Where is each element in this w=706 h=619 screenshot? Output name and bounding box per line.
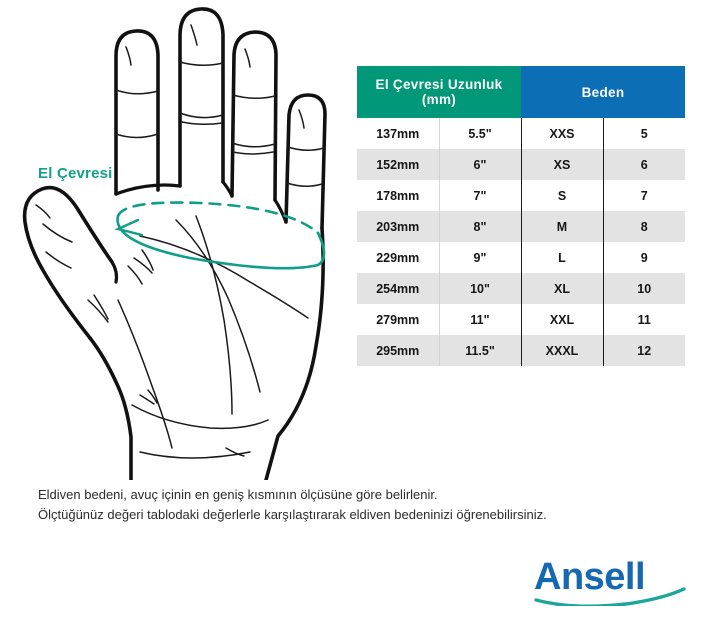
table-header-row: El Çevresi Uzunluk (mm) Beden [357, 66, 685, 118]
cell-inches: 11" [439, 304, 521, 335]
cell-size-number: 9 [603, 242, 685, 273]
table-row: 229mm9"L9 [357, 242, 685, 273]
footnote: Eldiven bedeni, avuç içinin en geniş kıs… [38, 485, 678, 525]
cell-size-number: 7 [603, 180, 685, 211]
cell-inches: 5.5" [439, 118, 521, 149]
hand-circumference-ellipse [118, 203, 324, 269]
cell-inches: 8" [439, 211, 521, 242]
cell-size-letter: XS [521, 149, 603, 180]
cell-millimeters: 152mm [357, 149, 439, 180]
cell-millimeters: 254mm [357, 273, 439, 304]
cell-size-letter: L [521, 242, 603, 273]
cell-millimeters: 229mm [357, 242, 439, 273]
footnote-line-1: Eldiven bedeni, avuç içinin en geniş kıs… [38, 485, 678, 505]
cell-size-letter: S [521, 180, 603, 211]
table-row: 279mm11"XXL11 [357, 304, 685, 335]
header-size: Beden [521, 66, 685, 118]
cell-millimeters: 203mm [357, 211, 439, 242]
cell-millimeters: 279mm [357, 304, 439, 335]
cell-size-number: 8 [603, 211, 685, 242]
header-hand-circumference: El Çevresi Uzunluk (mm) [357, 66, 521, 118]
cell-size-letter: XXS [521, 118, 603, 149]
cell-size-letter: XXXL [521, 335, 603, 366]
table-row: 203mm8"M8 [357, 211, 685, 242]
cell-size-letter: XXL [521, 304, 603, 335]
cell-inches: 9" [439, 242, 521, 273]
cell-inches: 7" [439, 180, 521, 211]
hand-circumference-label: El Çevresi [38, 165, 113, 182]
table-row: 137mm5.5"XXS5 [357, 118, 685, 149]
hand-illustration [0, 0, 350, 480]
cell-size-number: 12 [603, 335, 685, 366]
cell-size-number: 5 [603, 118, 685, 149]
cell-size-number: 11 [603, 304, 685, 335]
cell-inches: 11.5" [439, 335, 521, 366]
glove-size-table: El Çevresi Uzunluk (mm) Beden 137mm5.5"X… [357, 66, 685, 366]
table-row: 295mm11.5"XXXL12 [357, 335, 685, 366]
ansell-swoosh-icon [534, 558, 686, 606]
cell-inches: 10" [439, 273, 521, 304]
cell-size-number: 6 [603, 149, 685, 180]
cell-inches: 6" [439, 149, 521, 180]
cell-millimeters: 295mm [357, 335, 439, 366]
cell-size-number: 10 [603, 273, 685, 304]
cell-millimeters: 178mm [357, 180, 439, 211]
footnote-line-2: Ölçtüğünüz değeri tablodaki değerlerle k… [38, 505, 678, 525]
ansell-logo: Ansell [534, 558, 686, 606]
table-row: 178mm7"S7 [357, 180, 685, 211]
hand-outline [25, 9, 325, 480]
table-row: 254mm10"XL10 [357, 273, 685, 304]
table-row: 152mm6"XS6 [357, 149, 685, 180]
cell-size-letter: M [521, 211, 603, 242]
cell-size-letter: XL [521, 273, 603, 304]
cell-millimeters: 137mm [357, 118, 439, 149]
